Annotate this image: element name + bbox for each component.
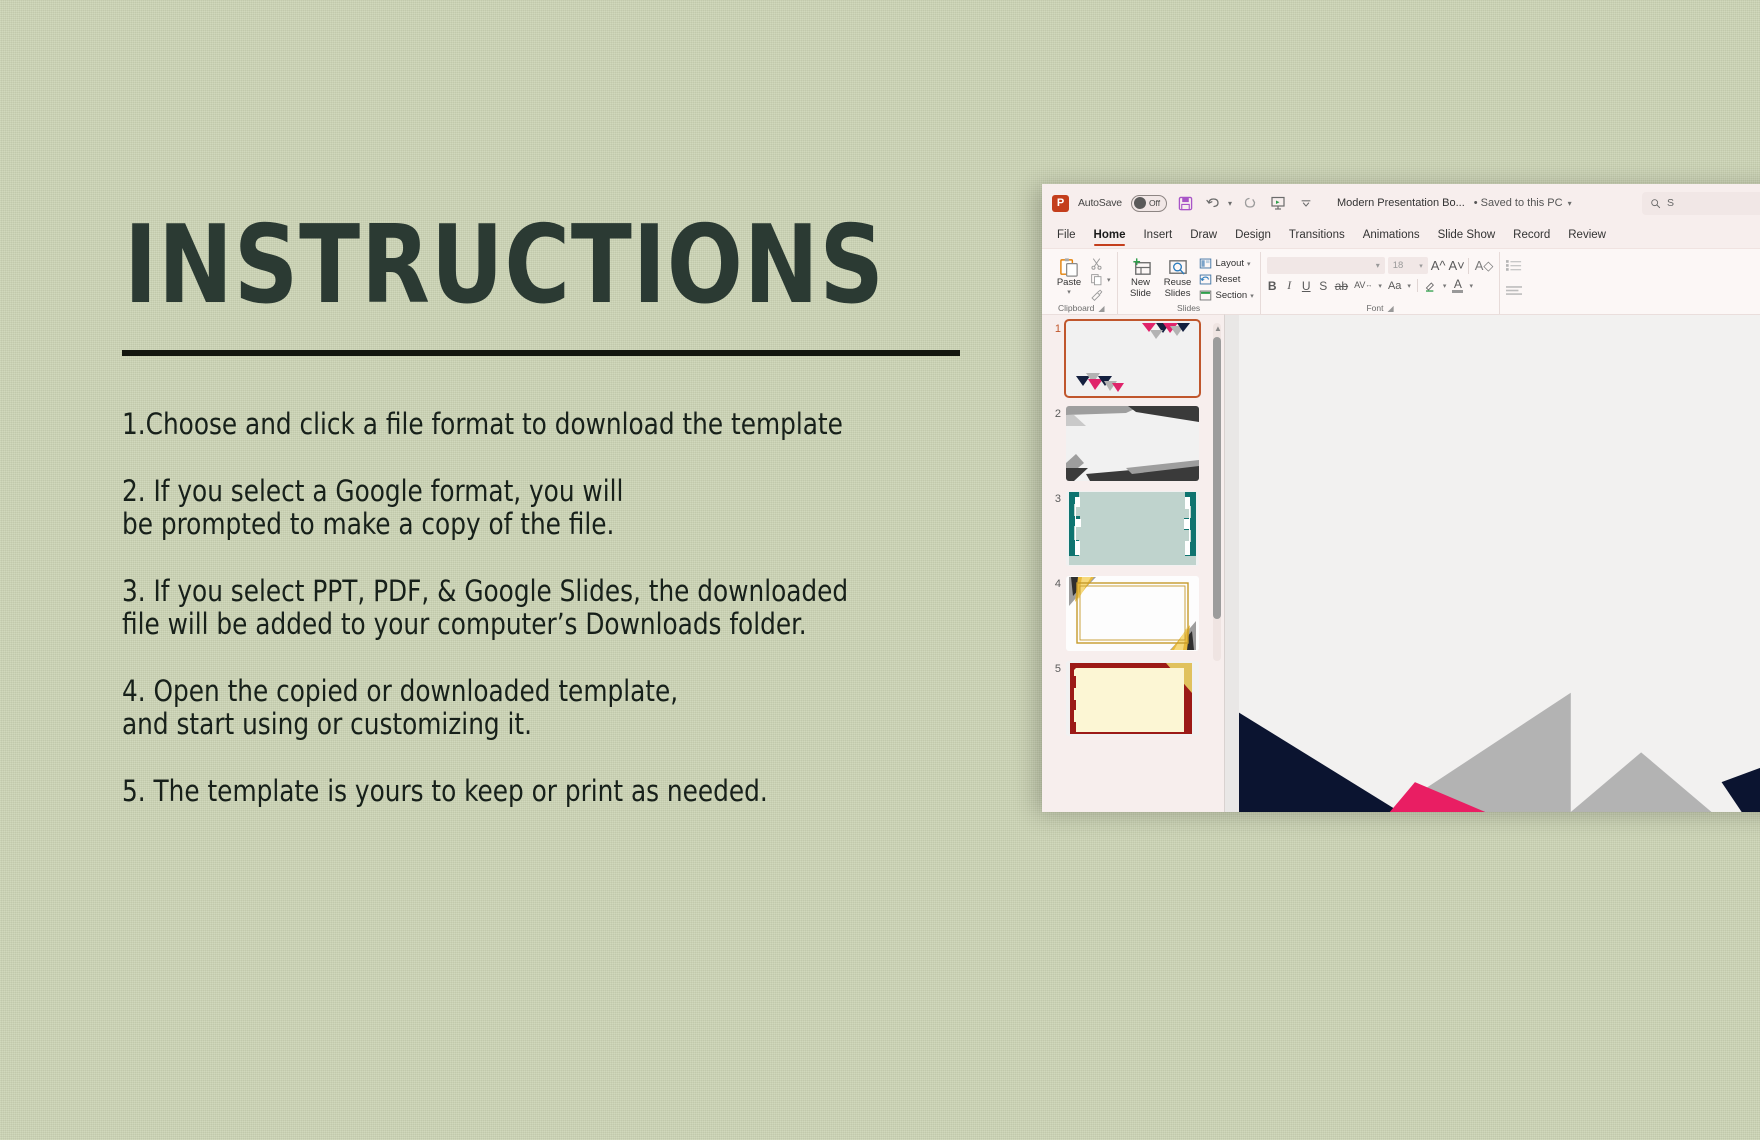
instruction-line: 5. The template is yours to keep or prin… bbox=[122, 775, 977, 807]
font-name-chevron-down-icon[interactable]: ▾ bbox=[1376, 261, 1380, 270]
search-placeholder: S bbox=[1667, 197, 1674, 209]
font-format-buttons: B I U S ab AV↔ ▾ Aa ▾ ▾ A ▾ bbox=[1267, 274, 1473, 293]
instruction-line: be prompted to make a copy of the file. bbox=[122, 508, 977, 540]
reuse-slides-label: Reuse Slides bbox=[1161, 278, 1195, 299]
slide-thumbnail-3[interactable] bbox=[1066, 491, 1199, 566]
slide-thumbnail-2[interactable] bbox=[1066, 406, 1199, 481]
slide-number: 2 bbox=[1048, 406, 1061, 420]
thumbnail-row-4[interactable]: 4 bbox=[1042, 576, 1224, 661]
font-color-icon[interactable]: A bbox=[1452, 278, 1463, 293]
font-size-chevron-down-icon[interactable]: ▾ bbox=[1419, 262, 1423, 270]
paste-label: Paste bbox=[1057, 278, 1081, 289]
scrollbar-thumb[interactable] bbox=[1213, 337, 1221, 619]
autosave-state: Off bbox=[1149, 198, 1160, 208]
instruction-step-2: 2. If you select a Google format, you wi… bbox=[122, 475, 977, 540]
increase-font-size-icon[interactable]: A^ bbox=[1431, 258, 1446, 273]
layout-chevron-down-icon[interactable]: ▾ bbox=[1247, 260, 1251, 268]
change-case-chevron-down-icon[interactable]: ▾ bbox=[1407, 282, 1411, 290]
thumbnail-row-2[interactable]: 2 bbox=[1042, 406, 1224, 491]
slide-thumbnail-4[interactable] bbox=[1066, 576, 1199, 651]
clipboard-small-buttons: ▾ bbox=[1089, 254, 1111, 303]
underline-icon[interactable]: U bbox=[1301, 279, 1312, 293]
align-text-icon[interactable] bbox=[1506, 284, 1522, 302]
slide-thumbnail-5[interactable] bbox=[1066, 661, 1199, 736]
paste-icon bbox=[1059, 256, 1080, 278]
section-icon bbox=[1198, 288, 1213, 303]
text-shadow-icon[interactable]: S bbox=[1318, 279, 1329, 293]
document-title[interactable]: Modern Presentation Bo... bbox=[1337, 197, 1465, 209]
ribbon-content: Paste ▾ ▾ bbox=[1042, 248, 1760, 314]
powerpoint-window: P AutoSave Off ▾ Modern Presentation Bo.… bbox=[1042, 184, 1760, 812]
instruction-step-4: 4. Open the copied or downloaded templat… bbox=[122, 675, 977, 740]
tab-review[interactable]: Review bbox=[1559, 226, 1615, 244]
tab-record[interactable]: Record bbox=[1504, 226, 1559, 244]
undo-icon[interactable] bbox=[1204, 194, 1223, 213]
format-painter-icon bbox=[1089, 288, 1104, 303]
tab-draw[interactable]: Draw bbox=[1181, 226, 1226, 244]
paste-button[interactable]: Paste ▾ bbox=[1052, 254, 1086, 296]
reset-button[interactable]: Reset bbox=[1198, 272, 1254, 287]
customize-quick-access-toolbar-icon[interactable] bbox=[1297, 194, 1316, 213]
tab-animations[interactable]: Animations bbox=[1354, 226, 1429, 244]
font-dialog-launcher-icon[interactable]: ◢ bbox=[1388, 304, 1394, 313]
font-color-chevron-down-icon[interactable]: ▾ bbox=[1469, 282, 1473, 290]
section-button[interactable]: Section ▾ bbox=[1198, 288, 1254, 303]
tab-design[interactable]: Design bbox=[1226, 226, 1280, 244]
clear-formatting-icon[interactable]: A◇ bbox=[1468, 258, 1494, 274]
save-icon[interactable] bbox=[1176, 194, 1195, 213]
tab-file[interactable]: File bbox=[1048, 226, 1085, 244]
autosave-label: AutoSave bbox=[1078, 197, 1122, 209]
instruction-line: and start using or customizing it. bbox=[122, 708, 977, 740]
slides-small-buttons: Layout ▾ Reset Section ▾ bbox=[1198, 254, 1254, 303]
layout-button[interactable]: Layout ▾ bbox=[1198, 256, 1254, 271]
thumbnail-row-5[interactable]: 5 bbox=[1042, 661, 1224, 746]
thumbnail-row-1[interactable]: 1 bbox=[1042, 321, 1224, 406]
instruction-step-5: 5. The template is yours to keep or prin… bbox=[122, 775, 977, 807]
decrease-font-size-icon[interactable]: A˅ bbox=[1449, 258, 1465, 273]
bullets-icon[interactable] bbox=[1506, 258, 1522, 276]
slide-number: 4 bbox=[1048, 576, 1061, 590]
new-slide-icon bbox=[1130, 256, 1152, 278]
quick-access-toolbar: P AutoSave Off ▾ Modern Presentation Bo.… bbox=[1042, 184, 1760, 222]
ribbon-group-slides: New Slide Reuse Slides Layout ▾ bbox=[1117, 252, 1260, 314]
ribbon-group-label-clipboard: Clipboard ◢ bbox=[1052, 303, 1111, 314]
character-spacing-chevron-down-icon[interactable]: ▾ bbox=[1378, 282, 1382, 290]
slide-thumbnail-1[interactable] bbox=[1066, 321, 1199, 396]
instruction-line: 4. Open the copied or downloaded templat… bbox=[122, 675, 977, 707]
ribbon-group-font: ▾ 18 ▾ A^ A˅ A◇ B I U S ab AV↔ bbox=[1260, 252, 1500, 314]
autosave-toggle[interactable]: Off bbox=[1131, 195, 1167, 212]
start-from-beginning-icon[interactable] bbox=[1269, 194, 1288, 213]
tab-slide-show[interactable]: Slide Show bbox=[1429, 226, 1505, 244]
reuse-slides-icon bbox=[1167, 256, 1189, 278]
clipboard-dialog-launcher-icon[interactable]: ◢ bbox=[1098, 304, 1104, 313]
tab-transitions[interactable]: Transitions bbox=[1280, 226, 1354, 244]
italic-icon[interactable]: I bbox=[1284, 278, 1295, 293]
search-input[interactable]: S bbox=[1642, 192, 1760, 215]
tab-insert[interactable]: Insert bbox=[1134, 226, 1181, 244]
tab-home[interactable]: Home bbox=[1085, 226, 1135, 244]
instruction-step-1: 1.Choose and click a file format to down… bbox=[122, 408, 977, 440]
highlight-chevron-down-icon[interactable]: ▾ bbox=[1443, 282, 1447, 290]
ribbon-group-clipboard: Paste ▾ ▾ bbox=[1046, 252, 1117, 314]
document-menu-chevron-down-icon[interactable]: ▾ bbox=[1568, 199, 1572, 208]
section-chevron-down-icon[interactable]: ▾ bbox=[1250, 292, 1254, 300]
editor-work-area: 1 bbox=[1042, 314, 1760, 812]
ribbon-tabs: File Home Insert Draw Design Transitions… bbox=[1042, 222, 1760, 248]
current-slide-canvas[interactable] bbox=[1239, 315, 1760, 812]
ribbon-group-label-slides: Slides bbox=[1124, 303, 1254, 314]
instruction-line: 2. If you select a Google format, you wi… bbox=[122, 475, 977, 507]
toggle-knob bbox=[1134, 197, 1146, 209]
copy-chevron-down-icon[interactable]: ▾ bbox=[1107, 276, 1111, 284]
strikethrough-icon[interactable]: ab bbox=[1335, 279, 1348, 293]
search-icon bbox=[1650, 198, 1661, 209]
format-painter-button[interactable] bbox=[1089, 288, 1111, 303]
layout-label: Layout bbox=[1216, 258, 1245, 269]
reset-label: Reset bbox=[1216, 274, 1241, 285]
ribbon-group-paragraph bbox=[1499, 252, 1528, 314]
change-case-icon[interactable]: Aa bbox=[1388, 280, 1401, 292]
instructions-slide-content: INSTRUCTIONS 1.Choose and click a file f… bbox=[0, 0, 1060, 1140]
thumbnail-row-3[interactable]: 3 bbox=[1042, 491, 1224, 576]
instruction-line: 3. If you select PPT, PDF, & Google Slid… bbox=[122, 575, 977, 607]
layout-icon bbox=[1198, 256, 1213, 271]
title-divider bbox=[122, 350, 960, 356]
cut-icon bbox=[1089, 256, 1104, 271]
copy-icon bbox=[1089, 272, 1104, 287]
page-title: INSTRUCTIONS bbox=[124, 212, 885, 320]
scroll-up-arrow-icon[interactable]: ▲ bbox=[1214, 324, 1222, 333]
paste-chevron-down-icon[interactable]: ▾ bbox=[1067, 289, 1071, 297]
slide-number: 5 bbox=[1048, 661, 1061, 675]
new-slide-button[interactable]: New Slide bbox=[1124, 254, 1158, 299]
section-label: Section bbox=[1216, 290, 1248, 301]
instruction-step-3: 3. If you select PPT, PDF, & Google Slid… bbox=[122, 575, 977, 640]
redo-icon[interactable] bbox=[1241, 194, 1260, 213]
instruction-line: file will be added to your computer’s Do… bbox=[122, 608, 977, 640]
slide-canvas-area bbox=[1224, 314, 1760, 812]
instructions-list: 1.Choose and click a file format to down… bbox=[122, 408, 977, 808]
new-slide-label-l1: New Slide bbox=[1124, 278, 1158, 299]
reset-icon bbox=[1198, 272, 1213, 287]
slide-thumbnail-panel: 1 bbox=[1042, 314, 1224, 812]
font-size-value: 18 bbox=[1393, 260, 1404, 271]
cut-button[interactable] bbox=[1089, 256, 1111, 271]
ribbon-group-label-font: Font ◢ bbox=[1267, 303, 1494, 314]
bold-icon[interactable]: B bbox=[1267, 279, 1278, 293]
powerpoint-logo-icon: P bbox=[1052, 195, 1069, 212]
font-name-input[interactable]: ▾ bbox=[1267, 257, 1385, 274]
text-highlight-color-icon[interactable] bbox=[1417, 279, 1437, 292]
thumbnail-scrollbar[interactable]: ▲ bbox=[1213, 323, 1221, 661]
instruction-line: 1.Choose and click a file format to down… bbox=[122, 408, 977, 440]
slide-number: 1 bbox=[1048, 321, 1061, 335]
copy-button[interactable]: ▾ bbox=[1089, 272, 1111, 287]
slide-number: 3 bbox=[1048, 491, 1061, 505]
reuse-slides-button[interactable]: Reuse Slides bbox=[1161, 254, 1195, 299]
save-status: • Saved to this PC bbox=[1474, 197, 1563, 209]
character-spacing-icon[interactable]: AV↔ bbox=[1354, 281, 1372, 290]
undo-chevron-down-icon[interactable]: ▾ bbox=[1228, 199, 1232, 208]
font-size-input[interactable]: 18 ▾ bbox=[1388, 257, 1428, 274]
